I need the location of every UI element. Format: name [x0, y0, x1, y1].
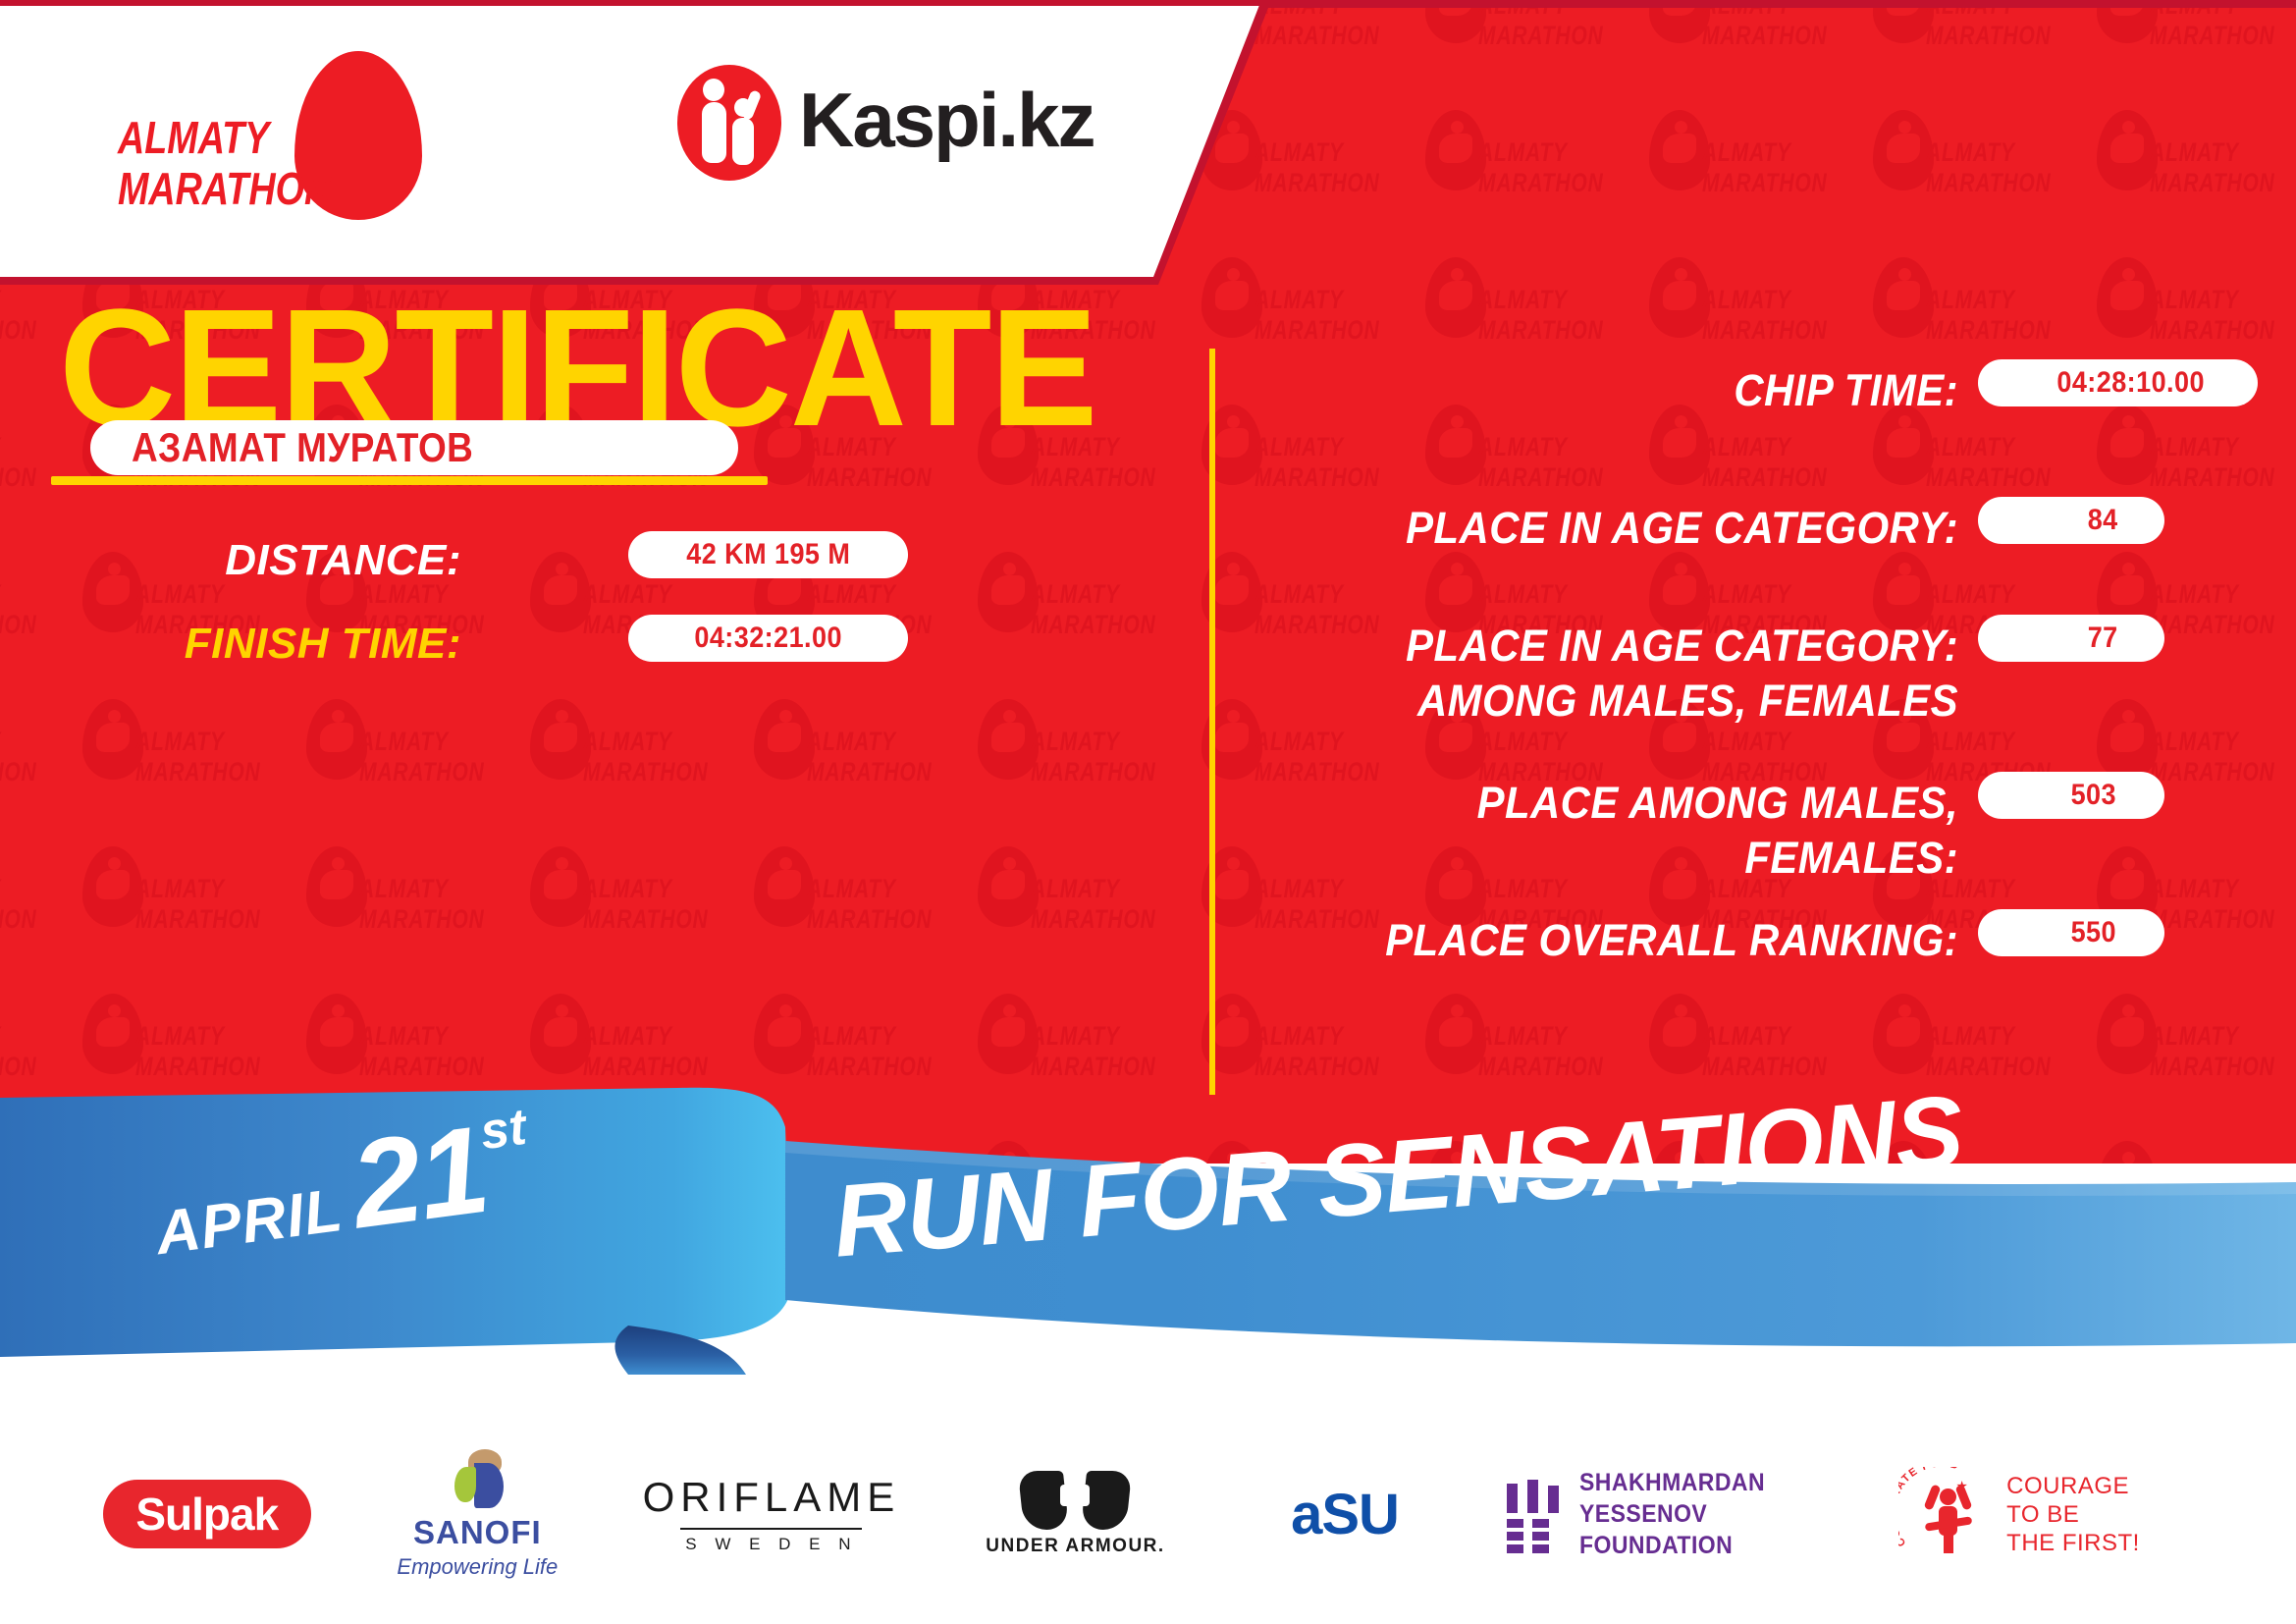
stat-value-pill: 84: [1978, 497, 2164, 544]
stat-label: PLACE AMONG MALES, FEMALES:: [1283, 776, 1958, 886]
stat-value: 77: [2087, 623, 2117, 654]
participant-name: АЗАМАТ МУРАТОВ: [132, 426, 473, 469]
certificate-left-column: CERTIFICATE АЗАМАТ МУРАТОВ DISTANCE: 42 …: [0, 285, 1207, 1164]
stat-value-pill: 04:28:10.00: [1978, 359, 2258, 406]
almaty-marathon-logo: ALMATY MARATHON: [118, 51, 442, 208]
distance-value-pill: 42 KM 195 M: [628, 531, 908, 578]
sponsor-yessenov-foundation[interactable]: SHAKHMARDAN YESSENOV FOUNDATION: [1507, 1467, 1831, 1561]
sponsor-under-armour[interactable]: UNDER ARMOUR.: [967, 1471, 1183, 1557]
logo-line-1: ALMATY: [118, 112, 269, 163]
sulpak-wordmark: Sulpak: [135, 1488, 278, 1541]
kaspi-wordmark: Kaspi.kz: [799, 75, 1094, 165]
distance-label: DISTANCE:: [225, 535, 461, 586]
stat-value: 04:28:10.00: [2056, 367, 2205, 399]
runner-figure-icon: [505, 88, 577, 179]
finish-time-value-pill: 04:32:21.00: [628, 615, 908, 662]
event-day: 21: [344, 1098, 495, 1257]
stat-value-pill: 503: [1978, 772, 2164, 819]
sponsor-sanofi[interactable]: SANOFI Empowering Life: [379, 1449, 575, 1580]
top-accent-rule: [0, 0, 2296, 6]
oriflame-wordmark: ORIFLAME: [643, 1474, 901, 1521]
oriflame-tagline: S W E D E N: [685, 1535, 857, 1554]
stat-label: CHIP TIME:: [1283, 363, 1958, 418]
sponsor-oriflame[interactable]: ORIFLAME S W E D E N: [644, 1474, 899, 1554]
stat-value: 550: [2071, 917, 2116, 948]
stat-value-pill: 77: [1978, 615, 2164, 662]
distance-row: DISTANCE: 42 KM 195 M: [0, 535, 1109, 590]
sanofi-wordmark: SANOFI: [413, 1514, 542, 1551]
sponsor-sulpak[interactable]: Sulpak: [103, 1480, 311, 1548]
stat-label: PLACE OVERALL RANKING:: [1283, 913, 1958, 968]
almaty-marathon-wordmark: ALMATY MARATHON: [118, 112, 331, 214]
stat-value: 503: [2071, 780, 2116, 811]
column-divider: [1209, 349, 1215, 1095]
stat-value-pill: 550: [1978, 909, 2164, 956]
courage-fund-icon: CORPORATE FUND: [1898, 1467, 1993, 1561]
distance-value: 42 KM 195 M: [686, 539, 850, 570]
courage-figure-icon: [1928, 1483, 1969, 1551]
finish-time-label: FINISH TIME:: [185, 619, 461, 670]
event-month: APRIL: [152, 1175, 347, 1269]
under-armour-icon: [1021, 1471, 1129, 1530]
kaspi-people-icon: [677, 65, 781, 181]
sponsor-asu[interactable]: aSU: [1252, 1482, 1438, 1547]
courage-fund-tagline: COURAGE TO BE THE FIRST!: [2006, 1472, 2140, 1557]
asu-wordmark: aSU: [1291, 1482, 1399, 1547]
finish-time-value: 04:32:21.00: [694, 623, 842, 654]
stat-label: PLACE IN AGE CATEGORY: AMONG MALES, FEMA…: [1283, 619, 1958, 729]
certificate-page: ALMATY MARATHONALMATY MARATHONALMATY MAR…: [0, 0, 2296, 1624]
finish-time-row: FINISH TIME: 04:32:21.00: [0, 619, 1109, 674]
stat-label: PLACE IN AGE CATEGORY:: [1283, 501, 1958, 556]
logo-line-2: MARATHON: [118, 163, 331, 214]
event-day-suffix: st: [477, 1098, 530, 1163]
oriflame-rule: [680, 1528, 862, 1530]
sponsor-bar: Sulpak SANOFI Empowering Life ORIFLAME S…: [0, 1404, 2296, 1624]
title-underline: [51, 476, 768, 485]
stat-value: 84: [2087, 505, 2117, 536]
event-ribbon: APRIL21st RUN FOR SENSATIONS: [0, 1080, 2296, 1375]
yessenov-wordmark: SHAKHMARDAN YESSENOV FOUNDATION: [1579, 1467, 1811, 1561]
sanofi-icon: [447, 1449, 507, 1510]
yessenov-icon: [1507, 1480, 1564, 1548]
participant-name-field: АЗАМАТ МУРАТОВ: [90, 420, 738, 475]
header: ALMATY MARATHON Kaspi.kz: [0, 0, 1266, 285]
under-armour-wordmark: UNDER ARMOUR.: [986, 1536, 1164, 1557]
sanofi-tagline: Empowering Life: [397, 1554, 558, 1580]
kaspi-logo[interactable]: Kaspi.kz: [677, 61, 1090, 189]
sponsor-courage-fund[interactable]: CORPORATE FUND COURAGE TO BE THE FIRST!: [1898, 1467, 2193, 1561]
